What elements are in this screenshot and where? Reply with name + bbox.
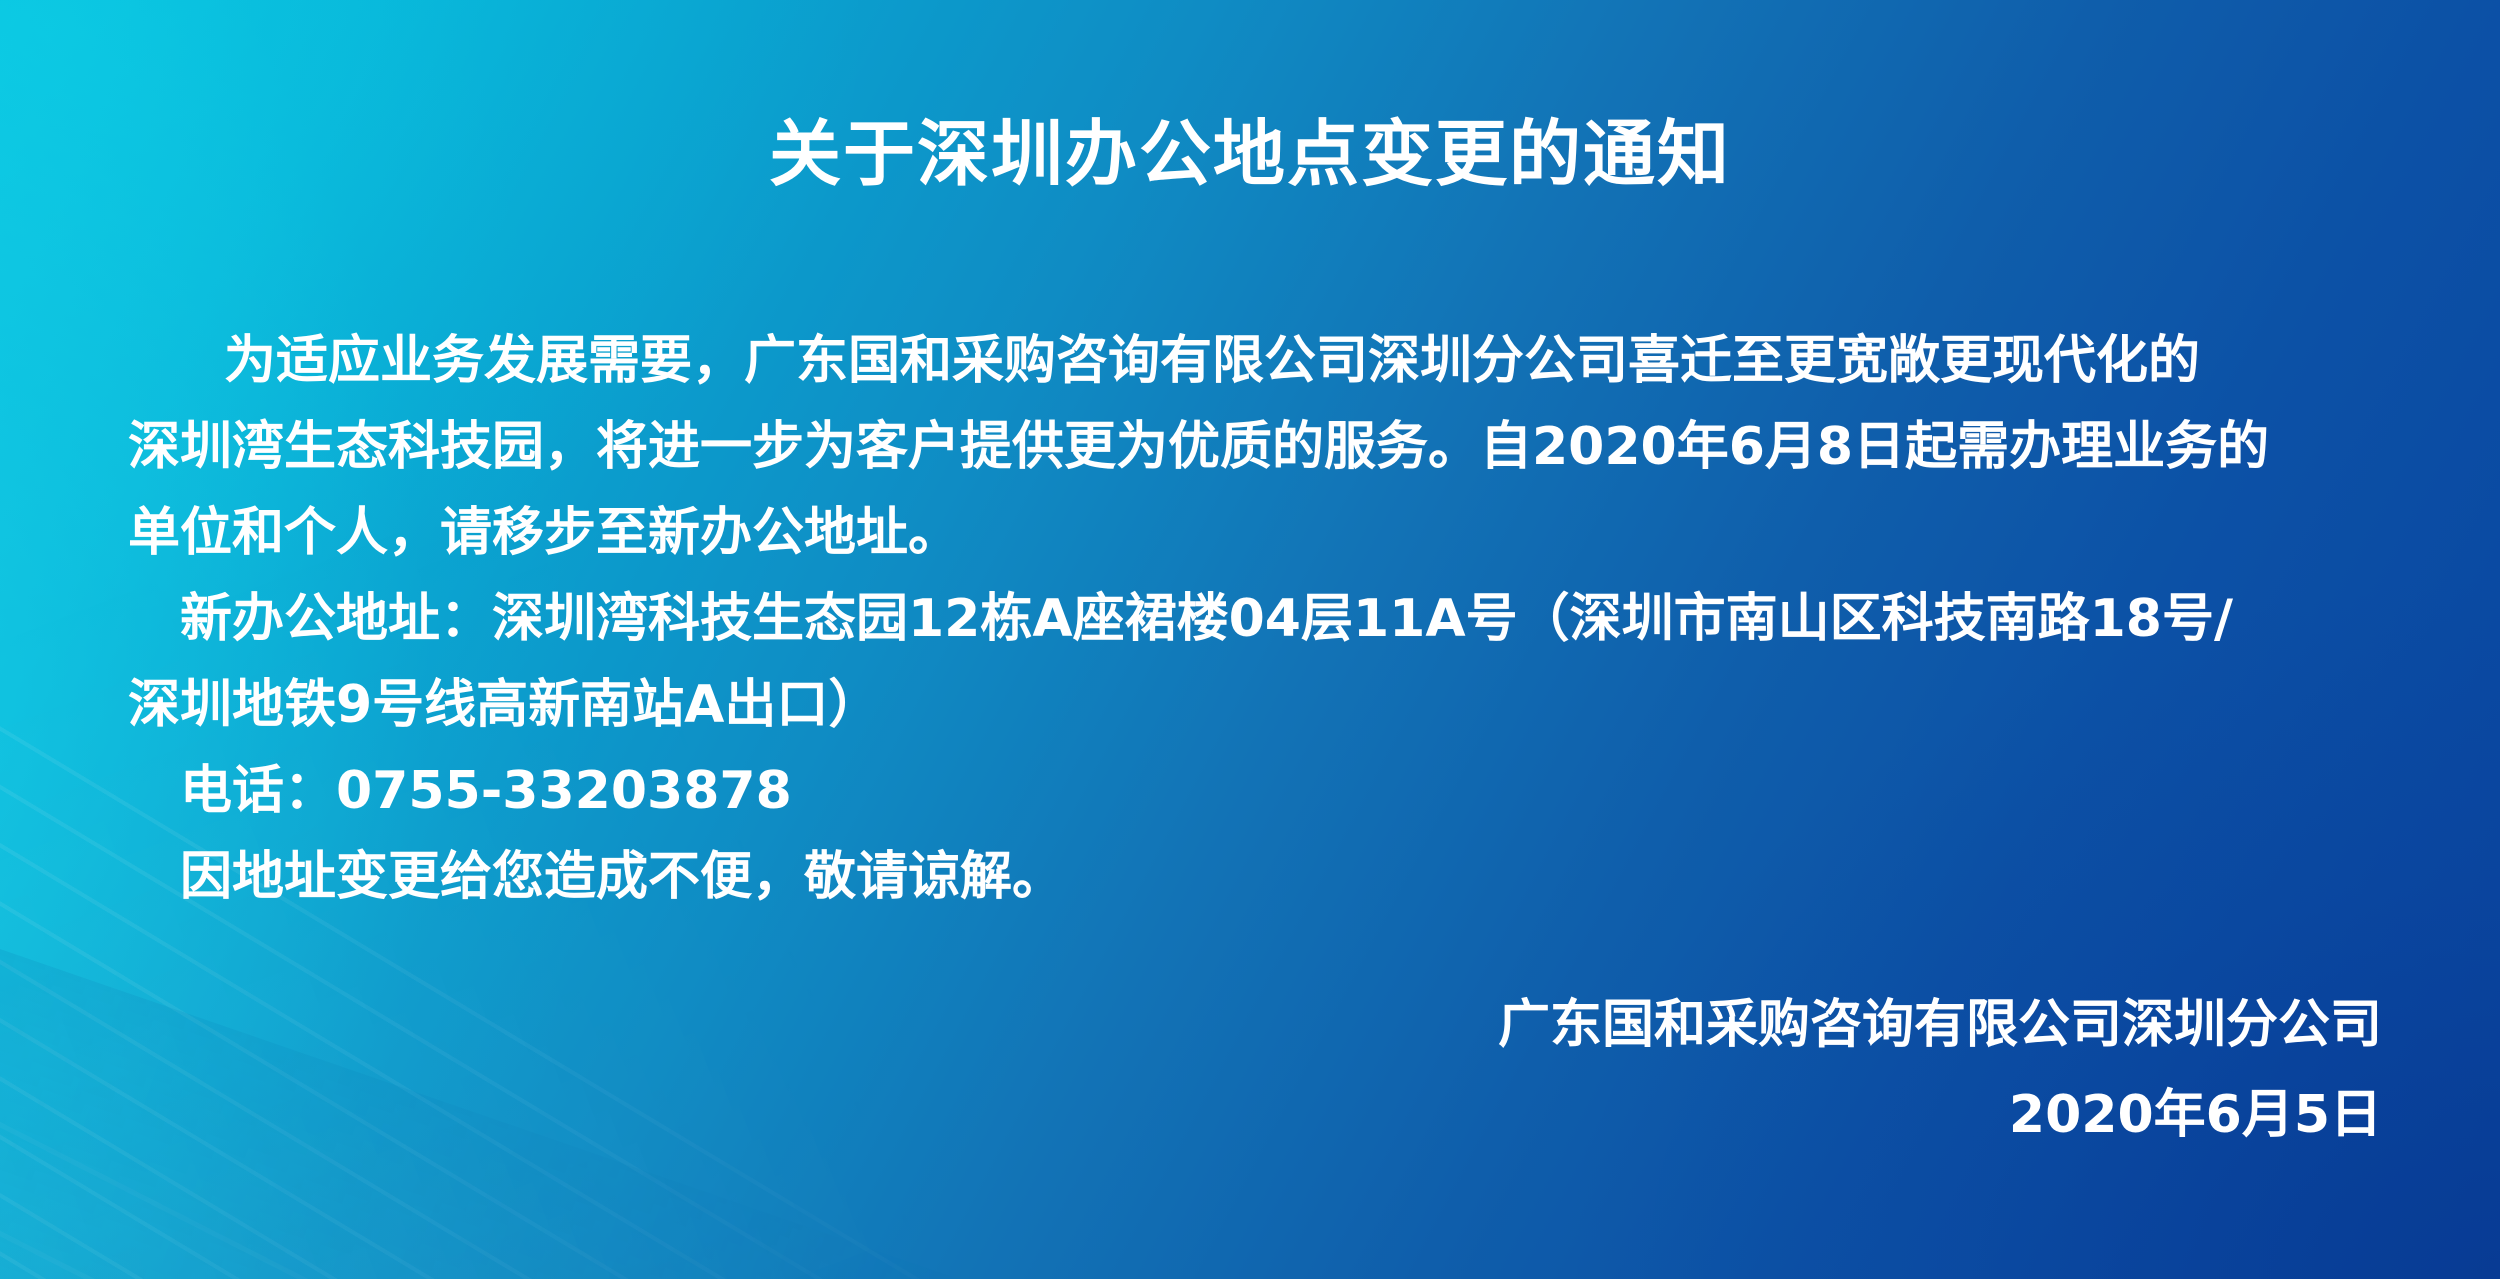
signature-block: 广东国和采购咨询有限公司深圳分公司 2020年6月5日	[1498, 980, 2382, 1160]
notice-title: 关于深圳办公地点变更的通知	[0, 118, 2500, 190]
body-paragraph1-line1: 为适应业务发展需要，广东国和采购咨询有限公司深圳分公司喜迁至更宽敞更现代化的	[128, 318, 2398, 404]
body-paragraph1-line2: 深圳湾生态科技园，将进一步为客户提供更为优质的服务。自2020年6月8日起需办理…	[128, 404, 2398, 490]
notice-poster: 关于深圳办公地点变更的通知 为适应业务发展需要，广东国和采购咨询有限公司深圳分公…	[0, 0, 2500, 1279]
signature-company: 广东国和采购咨询有限公司深圳分公司	[1498, 980, 2382, 1070]
body-paragraph2-line1: 新办公地址：深圳湾科技生态园12栋A座裙楼04层11A号（深圳市南山区科技南路1…	[128, 576, 2398, 662]
signature-date: 2020年6月5日	[1498, 1070, 2382, 1160]
body-phone-line: 电话：0755-33203878	[128, 748, 2398, 834]
notice-body: 为适应业务发展需要，广东国和采购咨询有限公司深圳分公司喜迁至更宽敞更现代化的 深…	[128, 318, 2398, 920]
notice-content: 关于深圳办公地点变更的通知 为适应业务发展需要，广东国和采购咨询有限公司深圳分公…	[0, 0, 2500, 1279]
body-paragraph1-line3: 单位和个人，请移步至新办公地址。	[128, 490, 2398, 576]
body-paragraph2-line2: 深圳地铁9号线高新南站A出口）	[128, 662, 2398, 748]
body-apology-line: 因地址变更给您造成不便，敬请谅解。	[128, 834, 2398, 920]
